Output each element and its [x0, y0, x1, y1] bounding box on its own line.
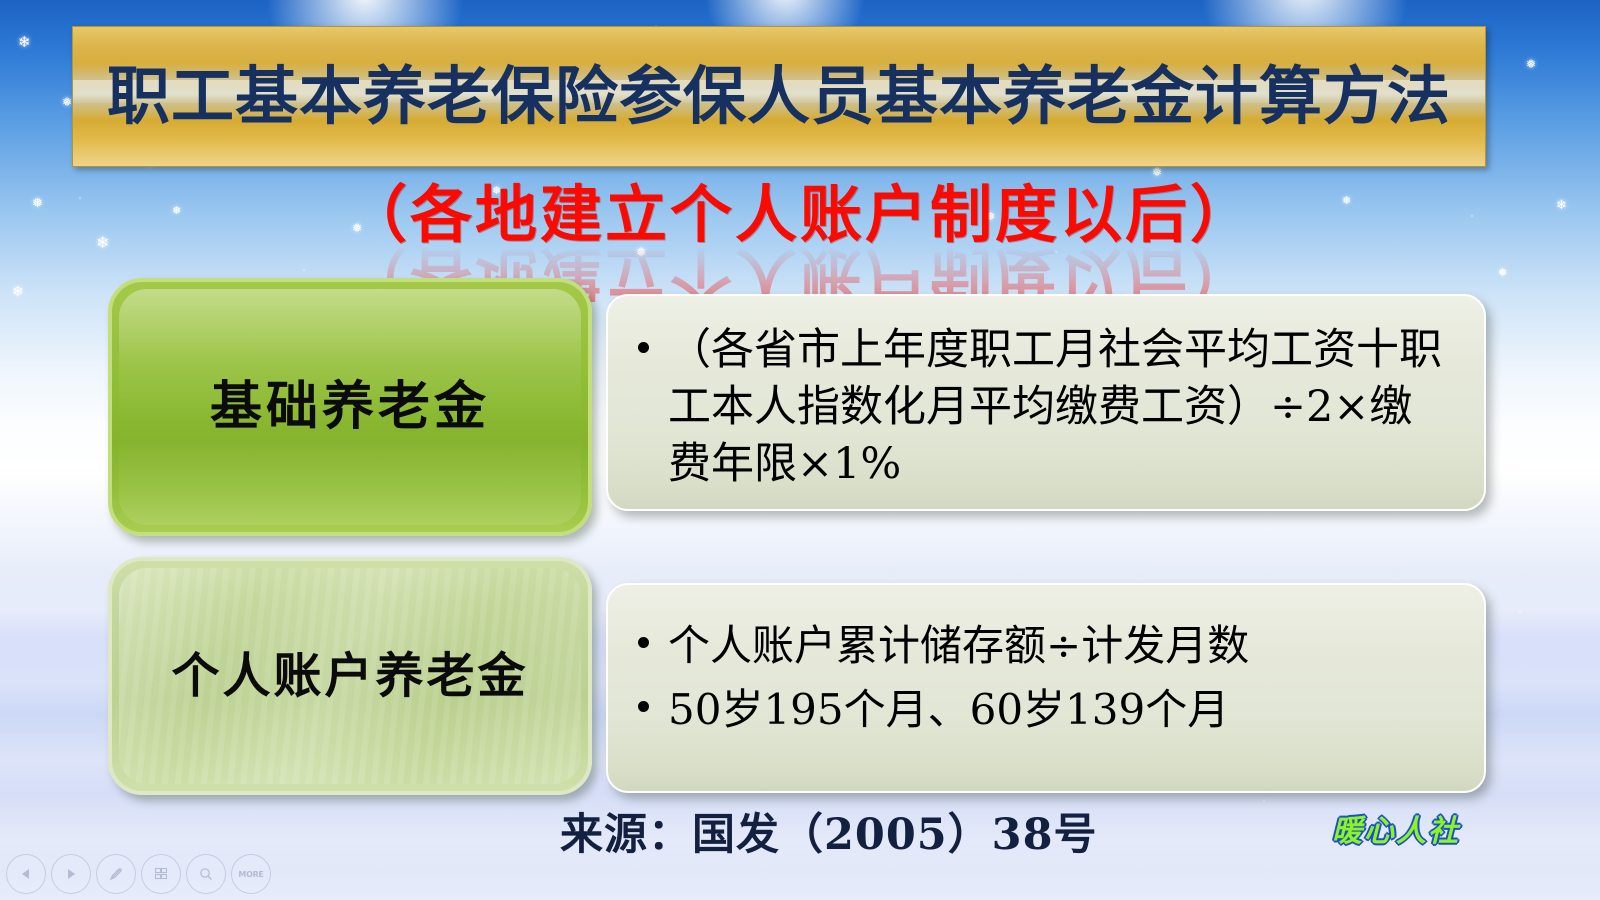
list-item: 50岁195个月、60岁139个月	[626, 681, 1454, 739]
label-box-text: 基础养老金	[210, 381, 490, 433]
content-box-personal-account-formula: 个人账户累计储存额÷计发月数 50岁195个月、60岁139个月	[606, 583, 1486, 793]
more-options-label: MORE	[238, 870, 263, 879]
page-subtitle: （各地建立个人账户制度以后）	[0, 182, 1600, 247]
bullet-list: （各省市上年度职工月社会平均工资十职工本人指数化月平均缴费工资）÷2×缴费年限×…	[626, 322, 1454, 494]
label-box-personal-account-pension: 个人账户养老金	[108, 557, 592, 795]
bullet-dot-icon	[638, 701, 649, 712]
page-title: 职工基本养老保险参保人员基本养老金计算方法	[107, 65, 1451, 128]
title-banner: 职工基本养老保险参保人员基本养老金计算方法	[72, 26, 1486, 167]
slide-canvas: ❄ ❅ ❄ ❅ ❄ ❅ ❄ ❅ ❄ ❅ ❄ ❅ ❄ ❅ ❄ ❅ ❄ ❅ ❄ ❅ …	[0, 0, 1600, 900]
list-item-text: 个人账户累计储存额÷计发月数	[668, 621, 1249, 670]
pen-tool-button[interactable]	[96, 854, 136, 894]
slide-grid-button[interactable]	[141, 854, 181, 894]
label-box-text: 个人账户养老金	[171, 652, 528, 700]
list-item-text: （各省市上年度职工月社会平均工资十职工本人指数化月平均缴费工资）÷2×缴费年限×…	[668, 325, 1442, 489]
bullet-dot-icon	[638, 342, 649, 353]
next-slide-button[interactable]	[51, 854, 91, 894]
bullet-list: 个人账户累计储存额÷计发月数 50岁195个月、60岁139个月	[626, 617, 1454, 739]
content-box-basic-pension-formula: （各省市上年度职工月社会平均工资十职工本人指数化月平均缴费工资）÷2×缴费年限×…	[606, 294, 1486, 511]
bullet-dot-icon	[638, 637, 649, 648]
slide-player-controls[interactable]: MORE	[6, 854, 271, 894]
list-item: （各省市上年度职工月社会平均工资十职工本人指数化月平均缴费工资）÷2×缴费年限×…	[626, 322, 1454, 494]
previous-slide-button[interactable]	[6, 854, 46, 894]
source-citation: 来源：国发（2005）38号	[560, 800, 1098, 862]
zoom-button[interactable]	[186, 854, 226, 894]
list-item-text: 50岁195个月、60岁139个月	[668, 685, 1229, 734]
list-item: 个人账户累计储存额÷计发月数	[626, 617, 1454, 675]
label-box-basic-pension: 基础养老金	[108, 278, 592, 536]
more-options-button[interactable]: MORE	[231, 854, 271, 894]
watermark-logo: 暖心人社	[1332, 806, 1460, 850]
